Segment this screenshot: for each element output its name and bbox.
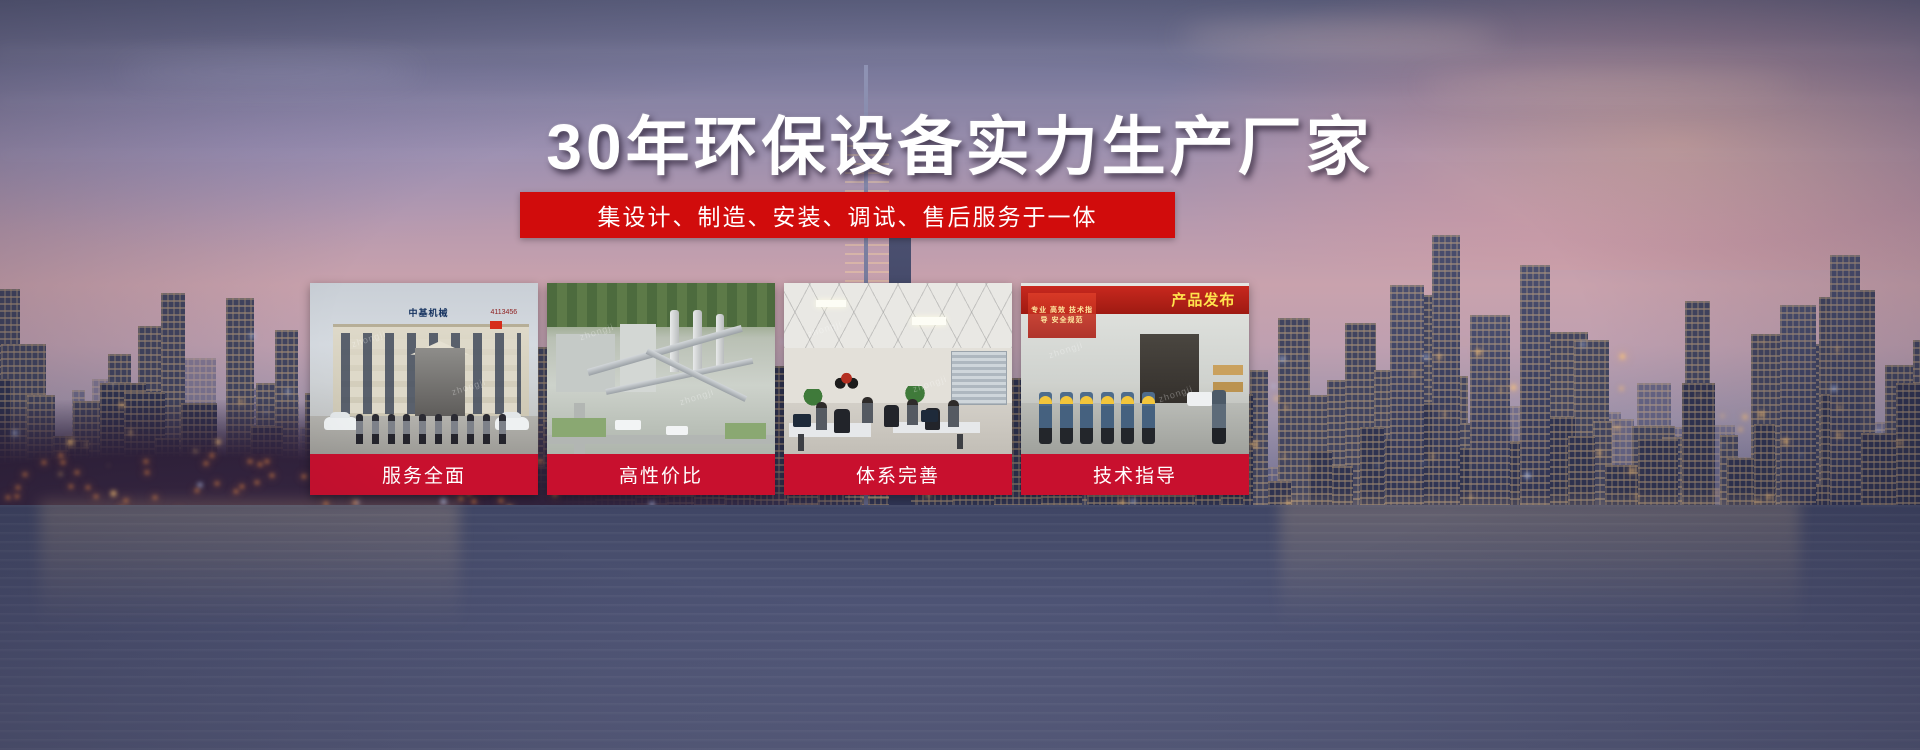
city-light bbox=[1620, 387, 1623, 390]
building bbox=[1432, 235, 1460, 535]
city-light bbox=[1476, 350, 1481, 355]
feature-card-label: 服务全面 bbox=[310, 454, 538, 495]
city-light bbox=[1837, 433, 1841, 437]
city-light bbox=[1423, 462, 1425, 464]
riverside-light bbox=[86, 486, 90, 489]
city-light bbox=[1783, 439, 1787, 443]
building-phone-text: 4113456 bbox=[479, 305, 529, 320]
feature-card-label: 高性价比 bbox=[547, 454, 775, 495]
city-light bbox=[286, 390, 289, 393]
workshop-side-banner: 专业 高效 技术指导 安全规范 bbox=[1028, 293, 1096, 337]
feature-card-list: 中基机械 4113456 zhongji bbox=[310, 283, 1258, 495]
feature-card-label: 技术指导 bbox=[1021, 454, 1249, 495]
city-light bbox=[1272, 385, 1274, 387]
city-light bbox=[111, 491, 116, 496]
city-light bbox=[1376, 464, 1378, 466]
city-light bbox=[59, 473, 61, 475]
page-title: 30年环保设备实力生产厂家 bbox=[0, 96, 1920, 188]
riverside-light bbox=[204, 462, 208, 465]
cloud-wisp bbox=[1180, 20, 1500, 54]
city-light bbox=[216, 440, 220, 444]
office-interior-photo: zhongji zhongji bbox=[784, 283, 1012, 454]
water-reflection bbox=[1280, 500, 1800, 630]
city-light bbox=[1431, 455, 1434, 458]
city-light bbox=[265, 411, 267, 413]
riverside-light bbox=[144, 460, 148, 463]
city-light bbox=[198, 483, 202, 487]
cloud-wisp bbox=[1420, 70, 1800, 98]
city-light bbox=[194, 450, 196, 452]
city-light bbox=[1698, 395, 1700, 397]
feature-card-label-text: 体系完善 bbox=[856, 461, 940, 488]
riverside-light bbox=[59, 454, 63, 457]
feature-card-label: 体系完善 bbox=[784, 454, 1012, 495]
city-light bbox=[1832, 386, 1836, 390]
city-light bbox=[1280, 357, 1284, 361]
cloud-wisp bbox=[120, 58, 420, 84]
city-light bbox=[68, 440, 73, 445]
city-light bbox=[1275, 397, 1278, 400]
city-light bbox=[1437, 355, 1440, 358]
feature-card-label-text: 服务全面 bbox=[382, 461, 466, 488]
workshop-side-banner-text: 专业 高效 技术指导 安全规范 bbox=[1028, 293, 1096, 337]
building-sign-text: 中基机械 bbox=[378, 305, 478, 320]
feature-card[interactable]: 产品发布 专业 高效 技术指导 安全规范 bbox=[1021, 283, 1249, 495]
city-light bbox=[1581, 343, 1584, 346]
water-reflection bbox=[40, 500, 460, 630]
feature-card-label-text: 高性价比 bbox=[619, 461, 703, 488]
city-light bbox=[85, 443, 87, 445]
city-light bbox=[1836, 348, 1839, 351]
riverside-light bbox=[75, 471, 79, 474]
feature-card[interactable]: zhongji zhongji 高性价比 bbox=[547, 283, 775, 495]
feature-card[interactable]: 中基机械 4113456 zhongji bbox=[310, 283, 538, 495]
feature-card[interactable]: zhongji zhongji 体系完善 bbox=[784, 283, 1012, 495]
city-light bbox=[1131, 499, 1135, 503]
subtitle-banner: 集设计、制造、安装、调试、售后服务于一体 bbox=[520, 192, 1175, 238]
city-light bbox=[239, 400, 243, 404]
city-light bbox=[129, 431, 132, 434]
city-light bbox=[1877, 429, 1880, 432]
city-light bbox=[1499, 389, 1501, 391]
building bbox=[1830, 255, 1860, 535]
city-light bbox=[1759, 412, 1764, 417]
city-light bbox=[1630, 468, 1635, 473]
riverside-light bbox=[255, 481, 259, 484]
riverside-light bbox=[16, 486, 20, 489]
watermark: zhongji bbox=[679, 387, 716, 407]
city-light bbox=[1525, 473, 1530, 478]
riverside-light bbox=[210, 454, 214, 457]
riverside-light bbox=[42, 461, 46, 464]
building bbox=[1390, 285, 1424, 535]
factory-aerial-photo: zhongji zhongji bbox=[547, 283, 775, 454]
subtitle-text: 集设计、制造、安装、调试、售后服务于一体 bbox=[598, 198, 1098, 232]
riverside-light bbox=[153, 496, 157, 499]
city-light bbox=[1283, 455, 1285, 457]
building bbox=[1520, 265, 1550, 535]
cloud-band bbox=[0, 46, 1920, 56]
company-headquarters-photo: 中基机械 4113456 zhongji bbox=[310, 283, 538, 454]
city-light bbox=[1470, 495, 1472, 497]
city-light bbox=[1285, 406, 1288, 409]
riverside-light bbox=[265, 460, 269, 463]
riverside-light bbox=[195, 489, 199, 492]
hero-banner: 30年环保设备实力生产厂家 集设计、制造、安装、调试、售后服务于一体 中基机械 … bbox=[0, 0, 1920, 750]
city-light bbox=[13, 431, 17, 435]
city-light bbox=[1443, 413, 1445, 415]
workshop-banner-text: 产品发布 bbox=[1171, 289, 1235, 310]
city-light bbox=[1597, 451, 1600, 454]
city-light bbox=[1620, 354, 1625, 359]
workshop-team-photo: 产品发布 专业 高效 技术指导 安全规范 bbox=[1021, 283, 1249, 454]
feature-card-label-text: 技术指导 bbox=[1093, 461, 1177, 488]
